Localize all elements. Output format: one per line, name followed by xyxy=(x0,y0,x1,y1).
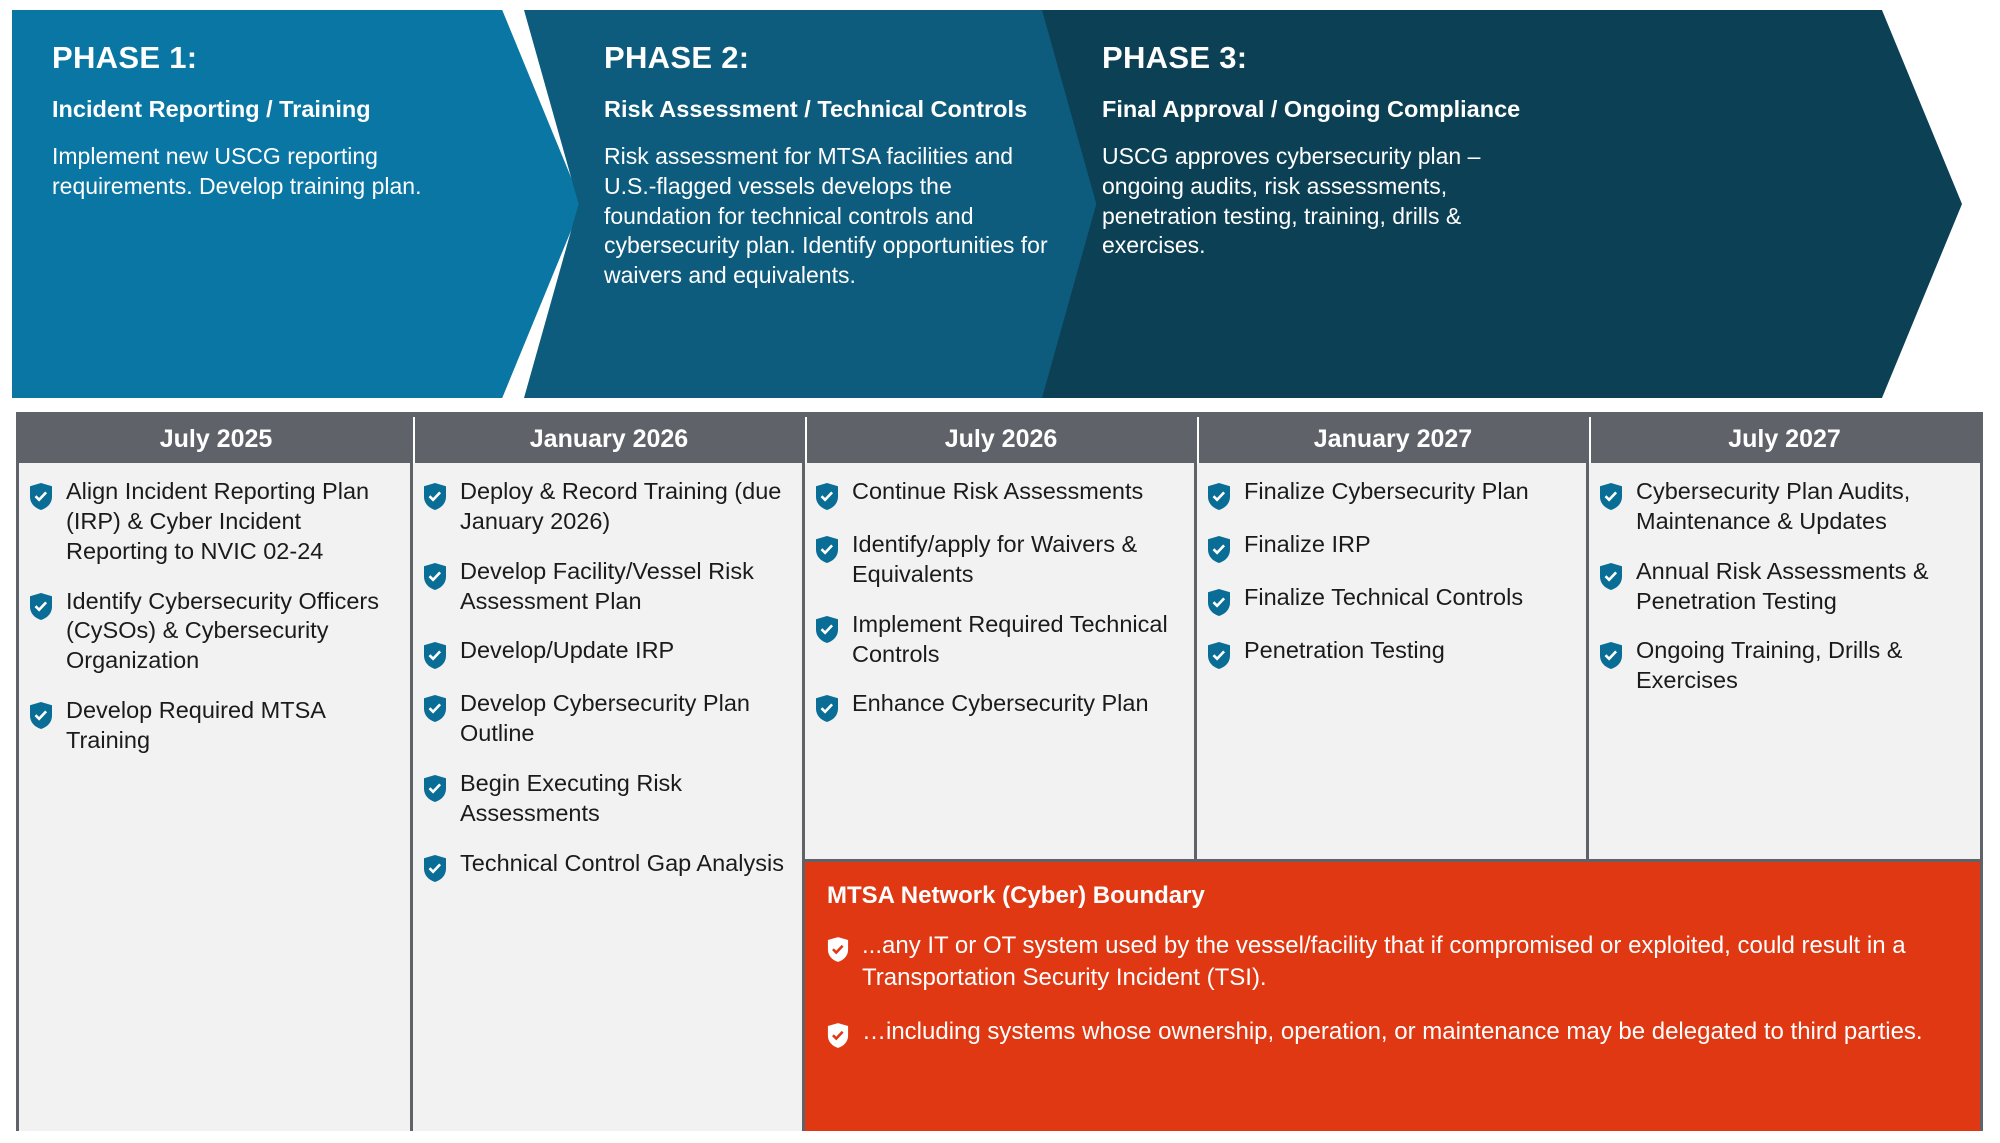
shield-check-icon xyxy=(423,775,447,802)
phase-1-number: PHASE 1: xyxy=(52,42,542,75)
timeline-column-july-2026: Continue Risk Assessments Identify/apply… xyxy=(805,463,1197,859)
list-item: Finalize Technical Controls xyxy=(1207,583,1570,616)
shield-check-icon xyxy=(1207,589,1231,616)
shield-check-icon xyxy=(1599,642,1623,669)
timeline-column-january-2027: Finalize Cybersecurity Plan Finalize IRP… xyxy=(1197,463,1589,859)
list-item-label: Cybersecurity Plan Audits, Maintenance &… xyxy=(1636,477,1964,537)
list-item: Enhance Cybersecurity Plan xyxy=(815,689,1178,722)
infographic-root: PHASE 1: Incident Reporting / Training I… xyxy=(0,0,2000,1143)
phase-3-number: PHASE 3: xyxy=(1102,42,1922,75)
phase-chevron-band: PHASE 1: Incident Reporting / Training I… xyxy=(0,0,2000,398)
mtsa-network-boundary-banner: MTSA Network (Cyber) Boundary ...any IT … xyxy=(805,859,1980,1131)
list-item-label: ...any IT or OT system used by the vesse… xyxy=(862,930,1954,994)
timeline-header-july-2026: July 2026 xyxy=(805,415,1197,463)
list-item-label: …including systems whose ownership, oper… xyxy=(862,1016,1923,1048)
shield-check-icon xyxy=(827,937,849,962)
list-item: Annual Risk Assessments & Penetration Te… xyxy=(1599,557,1964,617)
list-item-label: Ongoing Training, Drills & Exercises xyxy=(1636,636,1964,696)
timeline-column-january-2026: Deploy & Record Training (due January 20… xyxy=(413,463,805,1131)
list-item-label: Develop/Update IRP xyxy=(460,636,674,666)
list-item: Begin Executing Risk Assessments xyxy=(423,769,786,829)
list-item: Develop/Update IRP xyxy=(423,636,786,669)
list-item-label: Finalize IRP xyxy=(1244,530,1371,560)
list-item: Align Incident Reporting Plan (IRP) & Cy… xyxy=(29,477,394,567)
timeline-header-january-2027: January 2027 xyxy=(1197,415,1589,463)
timeline-column-july-2025: Align Incident Reporting Plan (IRP) & Cy… xyxy=(19,463,413,1131)
timeline-header-row: July 2025 January 2026 July 2026 January… xyxy=(19,415,1980,463)
timeline-header-july-2027: July 2027 xyxy=(1589,415,1980,463)
list-item: Deploy & Record Training (due January 20… xyxy=(423,477,786,537)
list-item-label: Finalize Cybersecurity Plan xyxy=(1244,477,1529,507)
shield-check-icon xyxy=(815,695,839,722)
list-item-label: Identify Cybersecurity Officers (CySOs) … xyxy=(66,587,394,677)
phase-1-subtitle: Incident Reporting / Training xyxy=(52,97,542,123)
list-item: Penetration Testing xyxy=(1207,636,1570,669)
list-item: Identify Cybersecurity Officers (CySOs) … xyxy=(29,587,394,677)
shield-check-icon xyxy=(815,483,839,510)
timeline-right-columns: Continue Risk Assessments Identify/apply… xyxy=(805,463,1980,859)
shield-check-icon xyxy=(423,642,447,669)
shield-check-icon xyxy=(423,563,447,590)
list-item: Implement Required Technical Controls xyxy=(815,610,1178,670)
list-item-label: Continue Risk Assessments xyxy=(852,477,1143,507)
list-item-label: Identify/apply for Waivers & Equivalents xyxy=(852,530,1178,590)
shield-check-icon xyxy=(1599,483,1623,510)
list-item: Continue Risk Assessments xyxy=(815,477,1178,510)
list-item-label: Deploy & Record Training (due January 20… xyxy=(460,477,786,537)
list-item: Cybersecurity Plan Audits, Maintenance &… xyxy=(1599,477,1964,537)
list-item-label: Enhance Cybersecurity Plan xyxy=(852,689,1149,719)
list-item: Develop Facility/Vessel Risk Assessment … xyxy=(423,557,786,617)
list-item: Develop Cybersecurity Plan Outline xyxy=(423,689,786,749)
list-item: Develop Required MTSA Training xyxy=(29,696,394,756)
phase-chevron-1: PHASE 1: Incident Reporting / Training I… xyxy=(12,10,582,398)
timeline-header-july-2025: July 2025 xyxy=(19,415,413,463)
shield-check-icon xyxy=(423,695,447,722)
shield-check-icon xyxy=(827,1023,849,1048)
phase-2-description: Risk assessment for MTSA facilities and … xyxy=(604,142,1064,290)
list-item-label: Develop Facility/Vessel Risk Assessment … xyxy=(460,557,786,617)
phase-3-subtitle: Final Approval / Ongoing Compliance xyxy=(1102,97,1922,123)
timeline-right-section: Continue Risk Assessments Identify/apply… xyxy=(805,463,1980,1131)
banner-title: MTSA Network (Cyber) Boundary xyxy=(827,882,1954,910)
list-item-label: Begin Executing Risk Assessments xyxy=(460,769,786,829)
list-item-label: Annual Risk Assessments & Penetration Te… xyxy=(1636,557,1964,617)
timeline-header-january-2026: January 2026 xyxy=(413,415,805,463)
list-item-label: Technical Control Gap Analysis xyxy=(460,849,784,879)
list-item-label: Finalize Technical Controls xyxy=(1244,583,1523,613)
shield-check-icon xyxy=(29,483,53,510)
list-item: ...any IT or OT system used by the vesse… xyxy=(827,930,1954,994)
list-item-label: Develop Required MTSA Training xyxy=(66,696,394,756)
list-item: Ongoing Training, Drills & Exercises xyxy=(1599,636,1964,696)
list-item-label: Align Incident Reporting Plan (IRP) & Cy… xyxy=(66,477,394,567)
list-item-label: Develop Cybersecurity Plan Outline xyxy=(460,689,786,749)
shield-check-icon xyxy=(815,536,839,563)
list-item: Finalize Cybersecurity Plan xyxy=(1207,477,1570,510)
shield-check-icon xyxy=(29,593,53,620)
list-item: Technical Control Gap Analysis xyxy=(423,849,786,882)
shield-check-icon xyxy=(1207,642,1231,669)
timeline-column-july-2027: Cybersecurity Plan Audits, Maintenance &… xyxy=(1589,463,1980,859)
shield-check-icon xyxy=(423,855,447,882)
shield-check-icon xyxy=(1207,483,1231,510)
timeline-body: Align Incident Reporting Plan (IRP) & Cy… xyxy=(19,463,1980,1131)
list-item: …including systems whose ownership, oper… xyxy=(827,1016,1954,1048)
phase-3-description: USCG approves cybersecurity plan – ongoi… xyxy=(1102,142,1547,261)
shield-check-icon xyxy=(1599,563,1623,590)
list-item-label: Implement Required Technical Controls xyxy=(852,610,1178,670)
timeline-table: July 2025 January 2026 July 2026 January… xyxy=(16,412,1983,1131)
list-item: Identify/apply for Waivers & Equivalents xyxy=(815,530,1178,590)
phase-1-description: Implement new USCG reporting requirement… xyxy=(52,142,472,201)
list-item: Finalize IRP xyxy=(1207,530,1570,563)
shield-check-icon xyxy=(29,702,53,729)
shield-check-icon xyxy=(423,483,447,510)
shield-check-icon xyxy=(815,616,839,643)
phase-chevron-3: PHASE 3: Final Approval / Ongoing Compli… xyxy=(1042,10,1962,398)
list-item-label: Penetration Testing xyxy=(1244,636,1445,666)
shield-check-icon xyxy=(1207,536,1231,563)
